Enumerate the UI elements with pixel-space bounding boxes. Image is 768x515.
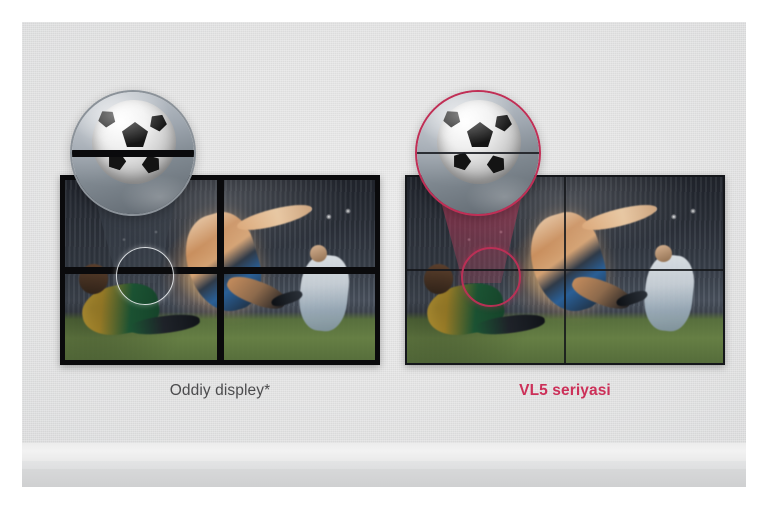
player-white-body	[641, 252, 697, 333]
right-magnified-bezel-seam	[417, 152, 539, 153]
ball-pentagon	[122, 122, 148, 147]
player-kicker-arm	[580, 200, 659, 235]
left-magnified-bezel-seam	[72, 150, 194, 157]
player-white-head	[310, 245, 328, 262]
player-slider-body	[424, 279, 508, 341]
player-kicker-body	[176, 205, 271, 319]
player-slider-leg	[475, 311, 547, 337]
floor-band-middle	[22, 461, 746, 469]
ball-pentagon	[467, 122, 493, 147]
right-caption: VL5 seriyasi	[405, 382, 725, 400]
player-kicker-leg	[569, 271, 634, 315]
player-kicker-leg	[224, 271, 289, 315]
right-magnifier	[415, 90, 541, 216]
floor-band-upper	[22, 443, 746, 461]
ball-pentagon	[485, 152, 508, 174]
player-kicker-arm	[235, 200, 314, 235]
player-boot	[270, 288, 304, 309]
player-slider-arm	[76, 261, 112, 298]
player-slider-arm	[421, 261, 457, 298]
right-magnified-ball	[437, 100, 521, 184]
player-white-head	[655, 245, 673, 262]
left-caption: Oddiy displey*	[60, 382, 380, 400]
screenshot-root: Oddiy displey*	[0, 0, 768, 515]
left-magnified-ball	[92, 100, 176, 184]
player-slider-body	[79, 279, 163, 341]
floor-band-lower	[22, 469, 746, 487]
player-kicker-body	[521, 205, 616, 319]
player-white-body	[296, 252, 352, 333]
left-magnifier	[70, 90, 196, 216]
player-slider-leg	[130, 311, 202, 337]
ball-pentagon	[147, 111, 170, 133]
player-boot	[615, 288, 649, 309]
ball-pentagon	[492, 111, 515, 133]
